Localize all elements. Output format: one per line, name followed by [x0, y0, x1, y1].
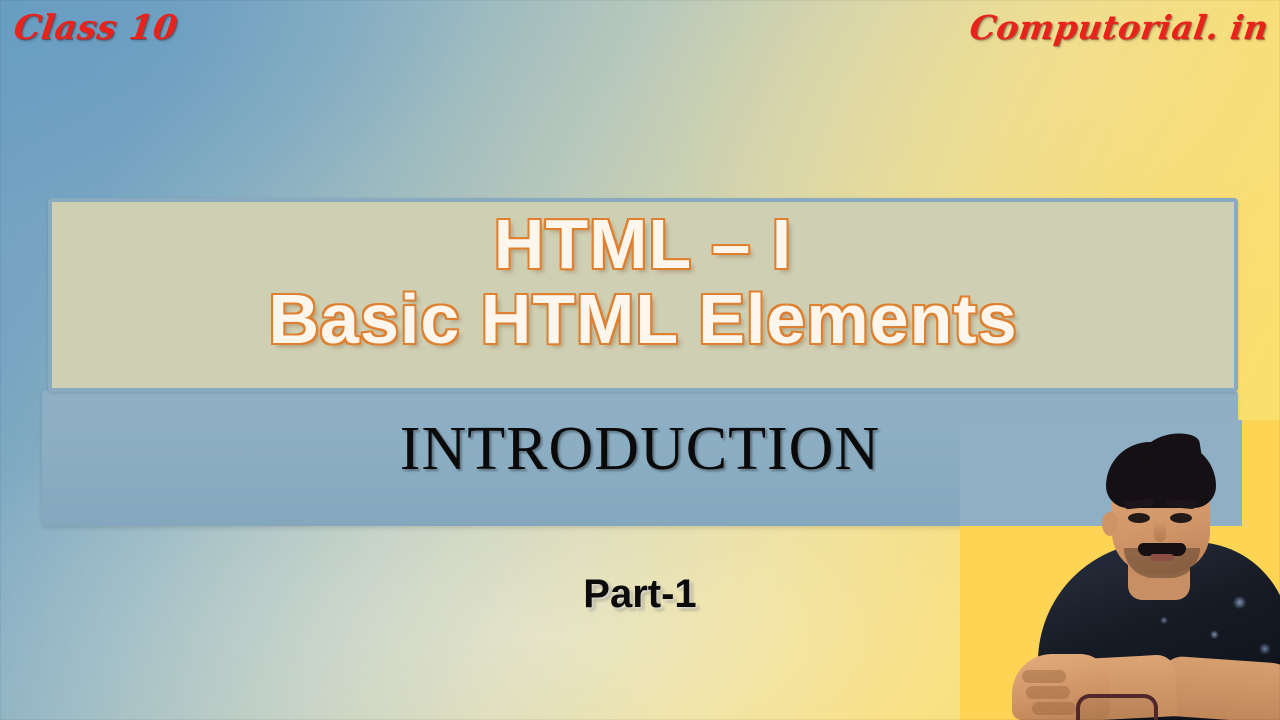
presenter-finger: [1032, 702, 1076, 715]
presenter-finger: [1022, 670, 1066, 683]
presenter-eyeglasses-on-desk: [1076, 694, 1158, 720]
presenter-webcam-overlay: [960, 420, 1280, 720]
class-label: Class 10: [11, 8, 180, 48]
title-line-primary: HTML – I: [52, 208, 1234, 281]
site-watermark: Computorial. in: [967, 8, 1271, 47]
title-lines: HTML – I Basic HTML Elements: [52, 208, 1234, 356]
title-plate: HTML – I Basic HTML Elements: [48, 198, 1238, 392]
presenter-finger: [1026, 686, 1070, 699]
title-line-secondary: Basic HTML Elements: [52, 283, 1234, 356]
presenter-nose: [1154, 520, 1166, 542]
presenter-eye-right: [1170, 513, 1192, 523]
presenter-eye-left: [1128, 513, 1150, 523]
presentation-slide: Class 10 Computorial. in INTRODUCTION HT…: [0, 0, 1280, 720]
presenter-ear: [1102, 512, 1118, 536]
presenter-backdrop-corner: [1242, 420, 1280, 528]
presenter-lips: [1150, 554, 1174, 561]
